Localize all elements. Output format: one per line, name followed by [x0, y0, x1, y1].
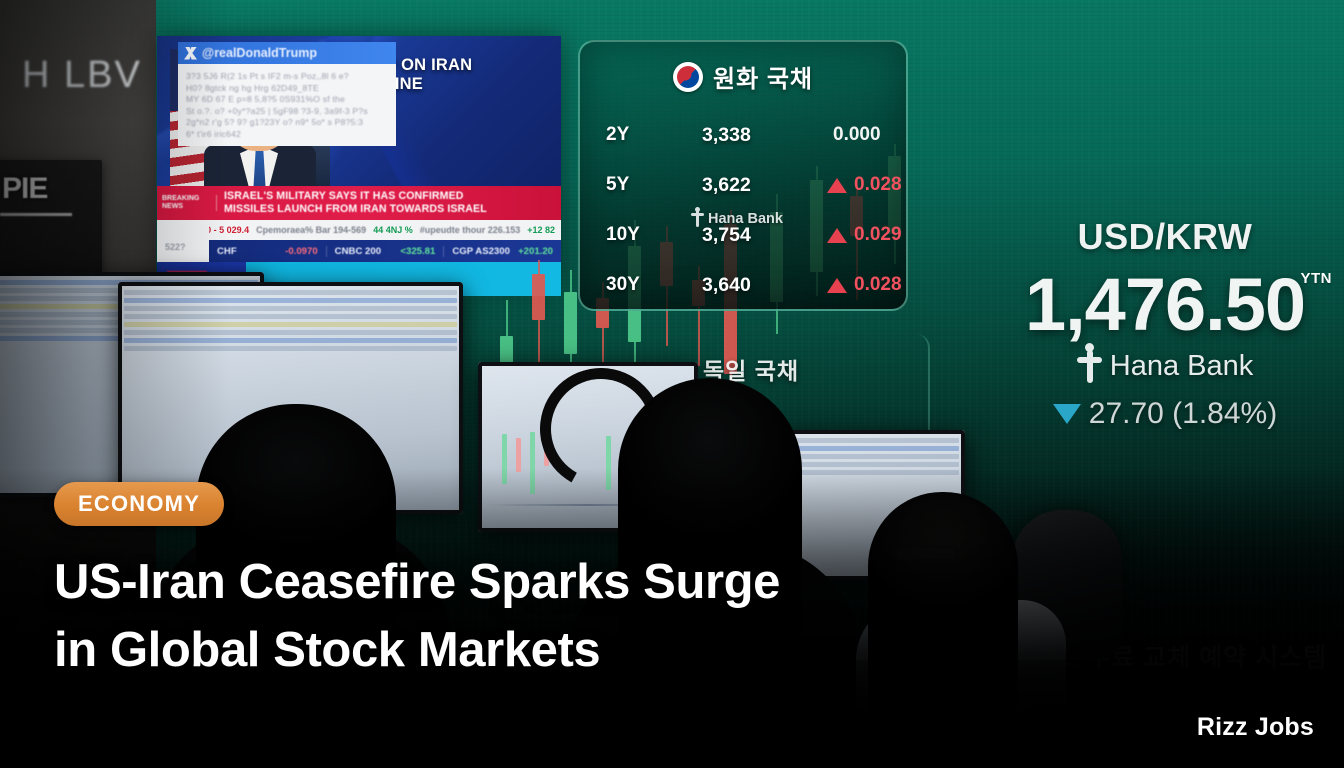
- hana-bank-watermark-label: Hana Bank: [708, 211, 783, 227]
- headline-line-2: in Global Stock Markets: [54, 616, 934, 684]
- bond-yield: 3,338: [702, 124, 827, 147]
- ticker-cell-value: <325.81: [400, 246, 435, 257]
- bond-tenor: 2Y: [606, 124, 702, 146]
- fx-currency-pair: USD/KRW: [990, 216, 1340, 258]
- screenshot-root: PIE TRUMP ON IRAN DEADLINE @realDonaldTr…: [0, 0, 1344, 768]
- bond-change: 0.000: [827, 124, 936, 146]
- fx-rate-panel: USD/KRW 1,476.50 Hana Bank 27.70 (1.84%): [990, 216, 1340, 431]
- hana-bank-logo-icon: [691, 210, 704, 227]
- south-korea-flag-icon: [673, 62, 703, 92]
- triangle-up-icon: [827, 278, 847, 293]
- hana-bank-logo-icon: [1077, 350, 1102, 383]
- bond-row: 5Y 3,622 0.028: [580, 160, 906, 210]
- bond-yield: 3,622: [702, 174, 827, 197]
- fx-bank-label: Hana Bank: [1110, 350, 1254, 383]
- korean-bond-panel: 원화 국채 2Y 3,338 0.000 5Y 3,622 0.028 10Y: [578, 40, 908, 311]
- breaking-news-text: ISRAEL'S MILITARY SAYS IT HAS CONFIRMED …: [217, 190, 487, 217]
- ticker-item: #upeudte thour 226.153: [420, 225, 521, 235]
- ticker-item: +12 82: [527, 225, 555, 235]
- bond-change-value: 0.000: [833, 124, 881, 146]
- fx-change-value: 27.70 (1.84%): [1089, 397, 1277, 431]
- fx-rate-value: 1,476.50: [990, 262, 1340, 348]
- korean-bond-title: 원화 국채: [713, 59, 813, 94]
- bond-change: 0.028: [827, 274, 936, 296]
- ticker-cell-value: -0.0970: [285, 246, 318, 257]
- bond-tenor: 30Y: [606, 274, 702, 296]
- bond-change-value: 0.028: [854, 174, 902, 196]
- headline-line-1: US-Iran Ceasefire Sparks Surge: [54, 548, 934, 616]
- bond-change: 0.029: [827, 224, 936, 246]
- triangle-up-icon: [827, 228, 847, 243]
- bond-change-value: 0.029: [854, 224, 902, 246]
- bond-row: 2Y 3,338 0.000: [580, 110, 906, 160]
- triangle-down-icon: [1053, 404, 1081, 424]
- ticker-cell: CNBC 200 <325.81: [327, 246, 445, 257]
- fx-bank-branding: Hana Bank: [990, 350, 1340, 383]
- bond-row: 30Y 3,640 0.028: [580, 260, 906, 310]
- bond-tenor: 5Y: [606, 174, 702, 196]
- bond-change: 0.028: [827, 174, 936, 196]
- ticker-item: Cpemoraea% Bar 194-569: [256, 225, 366, 235]
- bond-yield: 3,640: [702, 274, 827, 297]
- bond-change-value: 0.028: [854, 274, 902, 296]
- hana-bank-watermark: Hana Bank: [691, 210, 783, 227]
- breaking-news-line-2: MISSILES LAUNCH FROM IRAN TOWARDS ISRAEL: [217, 203, 487, 217]
- ticker-cell-name: CNBC 200: [335, 246, 381, 257]
- fx-change-row: 27.70 (1.84%): [990, 397, 1340, 431]
- article-headline: US-Iran Ceasefire Sparks Surge in Global…: [54, 548, 934, 684]
- triangle-up-icon: [827, 178, 847, 193]
- site-brand[interactable]: Rizz Jobs: [1197, 713, 1314, 742]
- category-badge[interactable]: ECONOMY: [54, 482, 224, 526]
- breaking-news-line-1: ISRAEL'S MILITARY SAYS IT HAS CONFIRMED: [217, 190, 487, 204]
- ticker-item: 44 4NJ %: [373, 225, 413, 235]
- bond-tenor: 10Y: [606, 224, 702, 246]
- korean-bond-header: 원화 국채: [580, 59, 906, 94]
